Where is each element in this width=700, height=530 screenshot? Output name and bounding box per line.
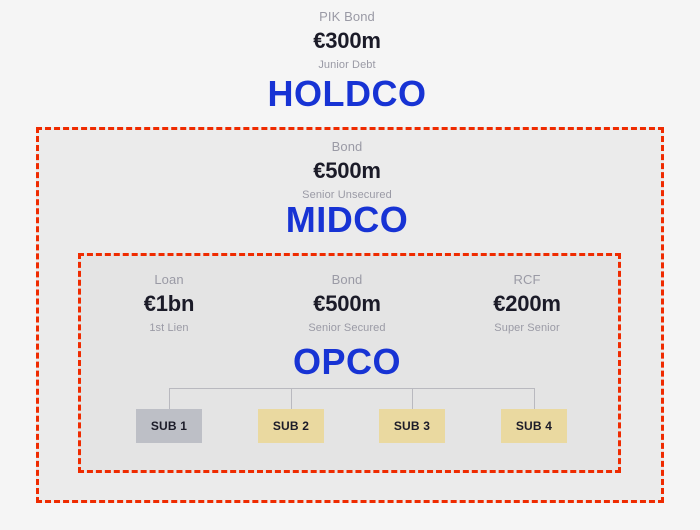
opco-tranche-rcf: RCF €200m Super Senior [457, 273, 597, 334]
subsidiary-label: SUB 1 [151, 419, 187, 433]
connector-drop-sub-1 [169, 388, 170, 409]
tranche-amount: €200m [457, 293, 597, 315]
subsidiary-box-sub-2[interactable]: SUB 2 [258, 409, 324, 443]
tranche-rank: Senior Secured [277, 323, 417, 334]
holdco-tranche-pik-bond: PIK Bond €300m Junior Debt [277, 10, 417, 71]
tranche-name: Bond [277, 140, 417, 153]
entity-title-holdco: HOLDCO [197, 76, 497, 112]
subsidiary-box-sub-3[interactable]: SUB 3 [379, 409, 445, 443]
subsidiary-label: SUB 2 [273, 419, 309, 433]
tranche-rank: 1st Lien [99, 323, 239, 334]
subsidiary-label: SUB 4 [516, 419, 552, 433]
tranche-amount: €300m [277, 30, 417, 52]
tranche-rank: Junior Debt [277, 60, 417, 71]
tranche-name: Loan [99, 273, 239, 286]
connector-drop-sub-4 [534, 388, 535, 409]
subsidiary-box-sub-4[interactable]: SUB 4 [501, 409, 567, 443]
connector-horizontal-bus [169, 388, 535, 389]
subsidiary-box-sub-1[interactable]: SUB 1 [136, 409, 202, 443]
tranche-name: RCF [457, 273, 597, 286]
connector-drop-sub-2 [291, 388, 292, 409]
midco-tranche-bond: Bond €500m Senior Unsecured [277, 140, 417, 201]
entity-title-midco: MIDCO [197, 202, 497, 238]
subsidiary-label: SUB 3 [394, 419, 430, 433]
diagram-canvas: PIK Bond €300m Junior Debt HOLDCO Bond €… [0, 0, 700, 530]
tranche-name: PIK Bond [277, 10, 417, 23]
opco-tranche-loan: Loan €1bn 1st Lien [99, 273, 239, 334]
tranche-rank: Super Senior [457, 323, 597, 334]
connector-drop-sub-3 [412, 388, 413, 409]
tranche-amount: €500m [277, 293, 417, 315]
tranche-name: Bond [277, 273, 417, 286]
opco-tranche-bond: Bond €500m Senior Secured [277, 273, 417, 334]
tranche-amount: €500m [277, 160, 417, 182]
entity-title-opco: OPCO [197, 344, 497, 380]
tranche-amount: €1bn [99, 293, 239, 315]
